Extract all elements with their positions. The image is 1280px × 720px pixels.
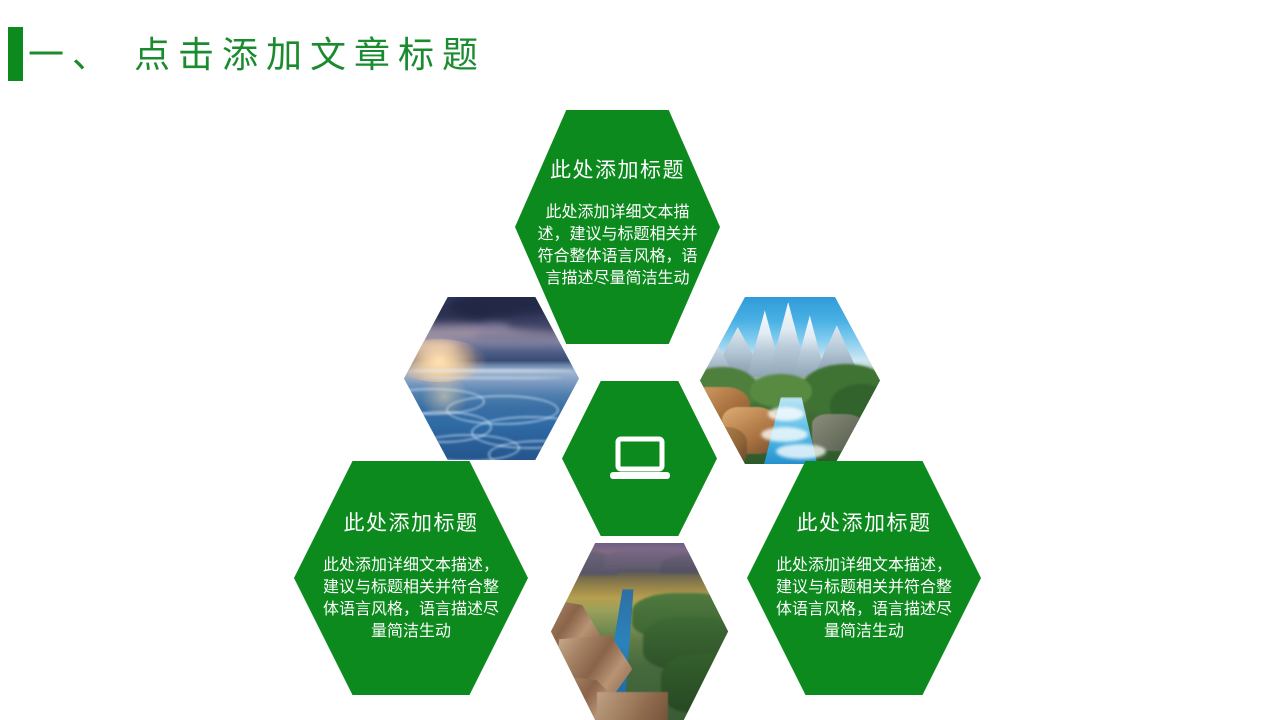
beach-sunset-photo: [404, 297, 579, 460]
hex-panel-bottom-right-heading: 此处添加标题: [747, 511, 981, 537]
hex-photo-mountain-river[interactable]: [700, 297, 880, 464]
hex-photo-beach-sunset[interactable]: [404, 297, 579, 460]
hex-panel-bottom-left[interactable]: 此处添加标题 此处添加详细文本描述，建议与标题相关并符合整体语言风格，语言描述尽…: [294, 461, 528, 695]
mountain-river-photo: [700, 297, 880, 464]
hexagon-diagram: 此处添加标题 此处添加详细文本描述，建议与标题相关并符合整体语言风格，语言描述尽…: [0, 0, 1280, 720]
hex-panel-top-heading: 此处添加标题: [515, 158, 720, 184]
laptop-icon: [609, 436, 671, 482]
hex-panel-bottom-right[interactable]: 此处添加标题 此处添加详细文本描述，建议与标题相关并符合整体语言风格，语言描述尽…: [747, 461, 981, 695]
hex-photo-canyon-river[interactable]: [551, 543, 728, 720]
hex-panel-bottom-left-body: 此处添加详细文本描述，建议与标题相关并符合整体语言风格，语言描述尽量简洁生动: [294, 555, 528, 643]
hex-panel-bottom-right-body: 此处添加详细文本描述，建议与标题相关并符合整体语言风格，语言描述尽量简洁生动: [747, 555, 981, 643]
canyon-river-photo: [551, 543, 728, 720]
hex-center-icon-panel[interactable]: [562, 381, 717, 536]
hex-panel-top[interactable]: 此处添加标题 此处添加详细文本描述，建议与标题相关并符合整体语言风格，语言描述尽…: [515, 110, 720, 344]
hex-panel-top-body: 此处添加详细文本描述，建议与标题相关并符合整体语言风格，语言描述尽量简洁生动: [515, 202, 720, 290]
hex-panel-bottom-left-heading: 此处添加标题: [294, 511, 528, 537]
